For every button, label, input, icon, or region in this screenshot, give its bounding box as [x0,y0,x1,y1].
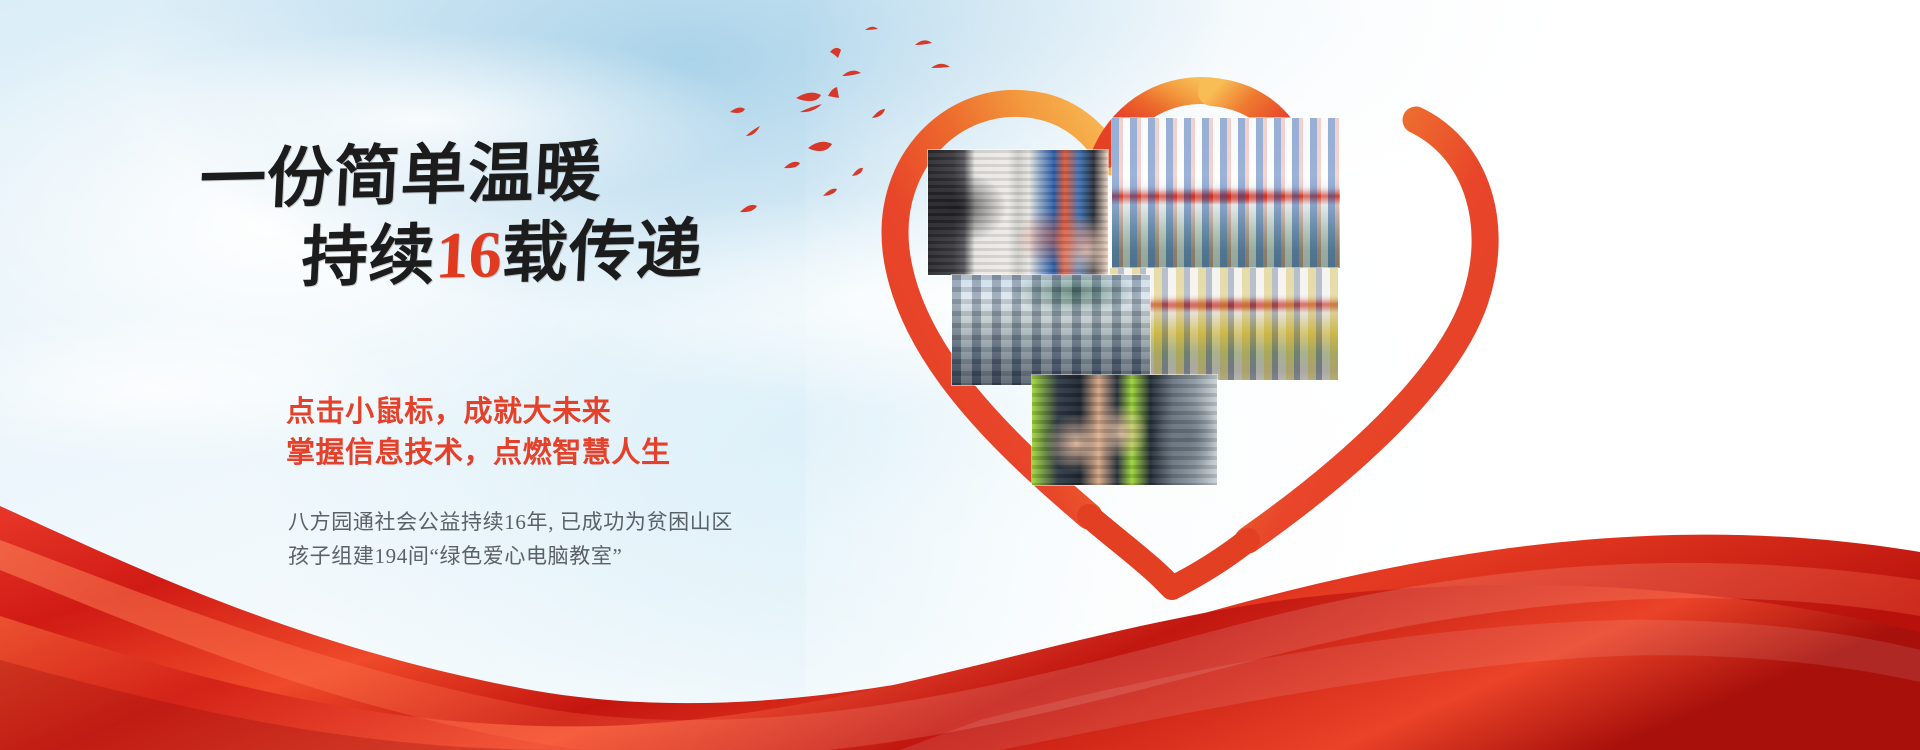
charity-banner: 一份简单温暖 持续16载传递 点击小鼠标，成就大未来 掌握信息技术，点燃智慧人生… [0,0,1920,750]
photo-school-group-award [1112,118,1340,268]
photo-boys-at-computers [1032,375,1217,485]
subtitle-block: 点击小鼠标，成就大未来 掌握信息技术，点燃智慧人生 [286,392,671,474]
headline-line-2-prefix: 持续 [300,220,438,296]
photo-classroom-wide [952,275,1150,385]
heart-collage-artwork [700,0,1600,620]
photo-computer-room-students [928,150,1108,275]
subtitle-line-2: 掌握信息技术，点燃智慧人生 [286,433,671,474]
headline-years-number: 16 [434,219,504,293]
photo-collage [700,0,1600,620]
subtitle-line-1: 点击小鼠标，成就大未来 [286,392,671,433]
description-line-2: 孩子组建194间“绿色爱心电脑教室” [288,539,733,573]
description-line-1: 八方园通社会公益持续16年, 已成功为贫困山区 [288,505,733,539]
description-block: 八方园通社会公益持续16年, 已成功为贫困山区 孩子组建194间“绿色爱心电脑教… [288,505,733,573]
headline-line-2-suffix: 载传递 [500,214,705,291]
